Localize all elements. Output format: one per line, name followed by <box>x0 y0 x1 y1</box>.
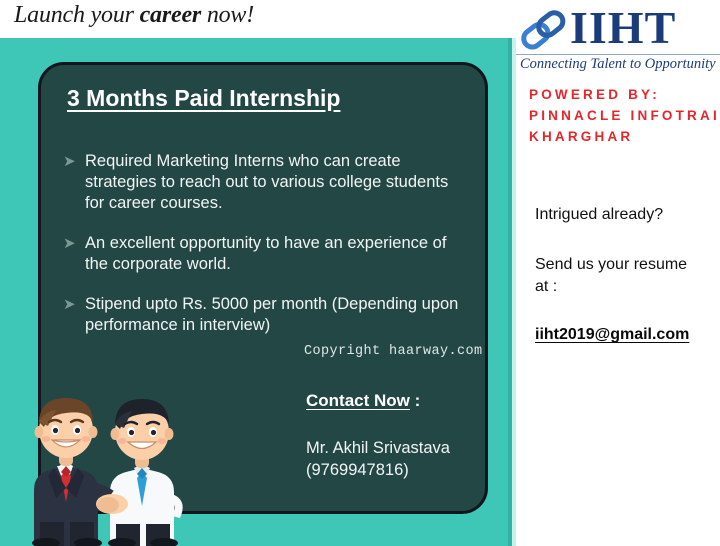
teal-panel-edge-highlight <box>512 38 516 546</box>
list-item: ➤ Required Marketing Interns who can cre… <box>63 151 467 214</box>
contact-person-name: Mr. Akhil Srivastava <box>306 437 486 459</box>
cta-question: Intrigued already? <box>535 204 720 226</box>
list-item: ➤ An excellent opportunity to have an ex… <box>63 233 467 275</box>
cta-instruction-line-2: at : <box>535 276 720 298</box>
card-title: 3 Months Paid Internship <box>67 85 340 112</box>
internship-poster: Launch your career now! 3 Months Paid In… <box>0 0 720 546</box>
powered-by-line: POWERED BY: <box>529 84 720 105</box>
page-title: Launch your career now! <box>14 2 254 29</box>
logo-divider <box>516 54 720 55</box>
contact-heading: Contact Now : <box>306 391 486 411</box>
powered-by-block: POWERED BY: PINNACLE INFOTRAIN KHARGHAR <box>529 84 720 147</box>
headline-before: Launch your <box>14 2 140 28</box>
contact-heading-label: Contact Now <box>306 391 410 410</box>
powered-by-line: PINNACLE INFOTRAIN <box>529 105 720 126</box>
cta-instruction-line-1: Send us your resume <box>535 254 720 276</box>
arrow-bullet-icon: ➤ <box>63 151 85 172</box>
logo-wordmark: IIHT <box>570 2 676 54</box>
contact-email-link[interactable]: iiht2019@gmail.com <box>535 326 720 344</box>
contact-block: Contact Now : Mr. Akhil Srivastava (9769… <box>306 391 486 481</box>
arrow-bullet-icon: ➤ <box>63 294 85 315</box>
powered-by-line: KHARGHAR <box>529 126 720 147</box>
headline-after: now! <box>201 2 254 28</box>
chain-link-icon <box>518 6 570 54</box>
cta-instruction: Send us your resume at : <box>535 254 720 298</box>
call-to-action-block: Intrigued already? Send us your resume a… <box>535 204 720 344</box>
logo-tagline: Connecting Talent to Opportunity <box>520 56 716 73</box>
headline-accent: career <box>140 2 201 28</box>
two-businessmen-handshake-illustration <box>4 382 204 546</box>
list-item-label: Required Marketing Interns who can creat… <box>85 151 467 214</box>
list-item-label: Stipend upto Rs. 5000 per month (Dependi… <box>85 294 467 336</box>
list-item-label: An excellent opportunity to have an expe… <box>85 233 467 275</box>
contact-heading-colon: : <box>410 391 420 410</box>
iiht-logo: IIHT Connecting Talent to Opportunity <box>516 2 720 80</box>
list-item: ➤ Stipend upto Rs. 5000 per month (Depen… <box>63 294 467 336</box>
contact-phone-number: (9769947816) <box>306 459 486 481</box>
copyright-watermark: Copyright haarway.com <box>304 344 483 359</box>
bullet-list: ➤ Required Marketing Interns who can cre… <box>63 151 467 355</box>
arrow-bullet-icon: ➤ <box>63 233 85 254</box>
